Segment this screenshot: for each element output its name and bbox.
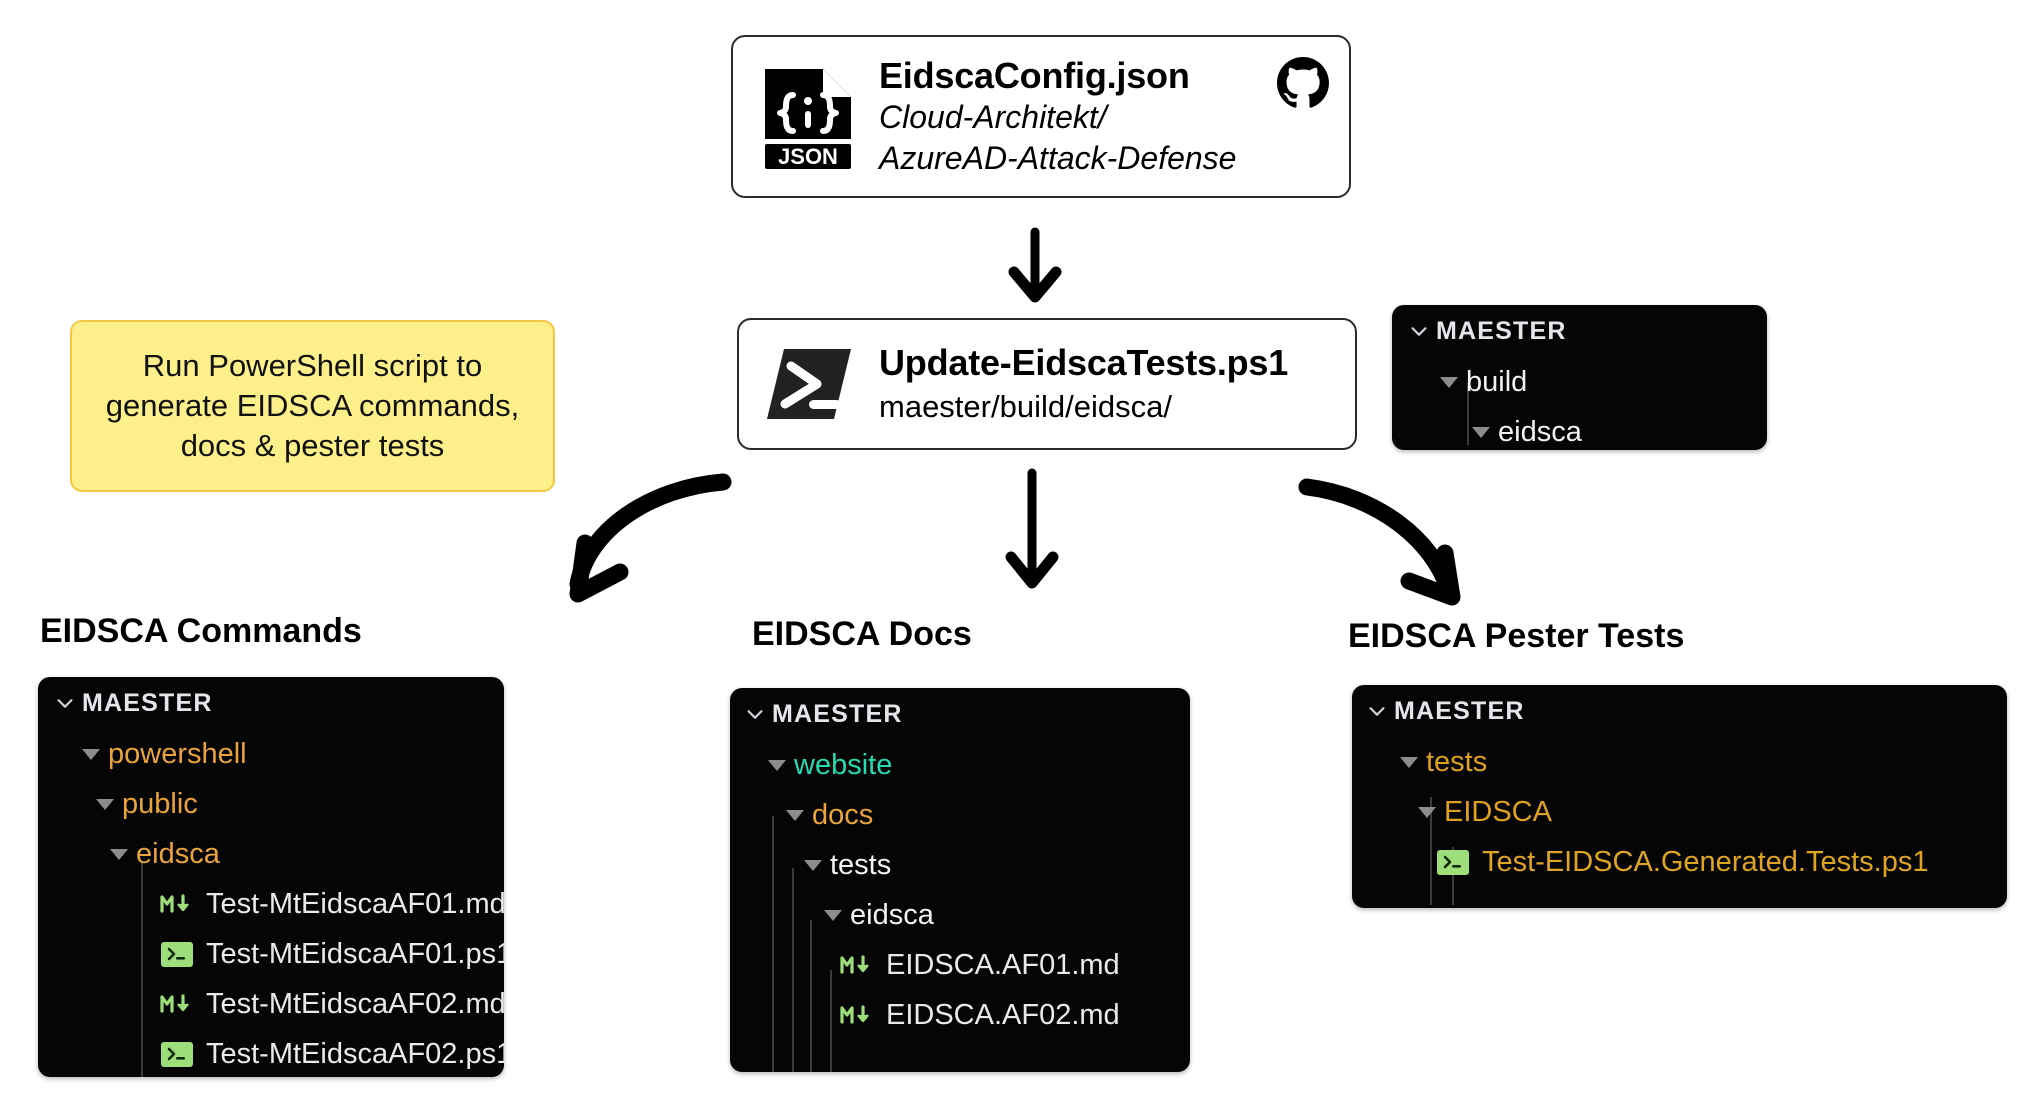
caret-down-icon[interactable] bbox=[88, 799, 122, 810]
tree-root-label: MAESTER bbox=[772, 702, 903, 727]
eidsca-docs-tree: MAESTER website docs tests eidsca bbox=[730, 688, 1190, 1072]
tree-node-label: tests bbox=[830, 851, 891, 880]
arrow-script-to-tests bbox=[1307, 487, 1452, 597]
tree-folder-row[interactable]: eidsca bbox=[38, 829, 504, 879]
tree-folder-row[interactable]: build bbox=[1392, 357, 1767, 407]
tree-node-label: Test-MtEidscaAF01.ps1 bbox=[206, 940, 504, 969]
heading-eidsca-pester-tests: EIDSCA Pester Tests bbox=[1348, 617, 1684, 656]
caret-down-icon[interactable] bbox=[1410, 807, 1444, 818]
tree-node-label: tests bbox=[1426, 748, 1487, 777]
markdown-file-icon bbox=[840, 952, 874, 978]
instruction-note: Run PowerShell script to generate EIDSCA… bbox=[70, 320, 555, 492]
caret-down-icon[interactable] bbox=[1432, 377, 1466, 388]
markdown-file-icon bbox=[160, 991, 194, 1017]
tree-root-label: MAESTER bbox=[1436, 319, 1567, 344]
tree-folder-row[interactable]: eidsca bbox=[730, 890, 1190, 940]
instruction-note-text: Run PowerShell script to generate EIDSCA… bbox=[90, 346, 535, 467]
eidsca-pester-tests-tree: MAESTER tests EIDSCA Test-EIDSCA.Generat… bbox=[1352, 685, 2007, 908]
tree-node-label: EIDSCA bbox=[1444, 798, 1552, 827]
tree-root-label: MAESTER bbox=[82, 691, 213, 716]
powershell-file-icon bbox=[1436, 849, 1470, 875]
source-config-card[interactable]: JSON EidscaConfig.json Cloud-Architekt/ … bbox=[731, 35, 1351, 198]
tree-node-label: docs bbox=[812, 801, 873, 830]
script-location-tree: MAESTER build eidsca Update-EidscaTests.… bbox=[1392, 305, 1767, 450]
source-card-title: EidscaConfig.json bbox=[879, 56, 1323, 96]
caret-down-icon[interactable] bbox=[778, 810, 812, 821]
tree-node-label: build bbox=[1466, 368, 1527, 397]
svg-text:JSON: JSON bbox=[778, 144, 838, 169]
tree-file-row[interactable]: Test-MtEidscaAF01.md bbox=[38, 879, 504, 929]
tree-root-row[interactable]: MAESTER bbox=[730, 688, 1190, 740]
heading-eidsca-docs: EIDSCA Docs bbox=[752, 615, 972, 654]
tree-file-row[interactable]: Test-MtEidscaAF02.ps1 bbox=[38, 1029, 504, 1077]
tree-folder-row[interactable]: docs bbox=[730, 790, 1190, 840]
arrow-script-to-docs bbox=[1011, 473, 1053, 583]
tree-folder-row[interactable]: tests bbox=[730, 840, 1190, 890]
diagram-canvas: JSON EidscaConfig.json Cloud-Architekt/ … bbox=[0, 0, 2030, 1104]
chevron-down-icon[interactable] bbox=[48, 692, 82, 714]
caret-down-icon[interactable] bbox=[74, 749, 108, 760]
tree-node-label: powershell bbox=[108, 740, 247, 769]
markdown-file-icon bbox=[840, 1002, 874, 1028]
tree-root-row[interactable]: MAESTER bbox=[38, 677, 504, 729]
caret-down-icon[interactable] bbox=[760, 760, 794, 771]
tree-file-row[interactable]: Test-MtEidscaAF02.md bbox=[38, 979, 504, 1029]
caret-down-icon[interactable] bbox=[816, 910, 850, 921]
tree-node-label: Test-MtEidscaAF01.md bbox=[206, 890, 504, 919]
caret-down-icon[interactable] bbox=[1464, 427, 1498, 438]
tree-folder-row[interactable]: website bbox=[730, 740, 1190, 790]
caret-down-icon[interactable] bbox=[1392, 757, 1426, 768]
tree-folder-row[interactable]: tests bbox=[1352, 737, 2007, 787]
heading-eidsca-commands: EIDSCA Commands bbox=[40, 612, 362, 651]
tree-folder-row[interactable]: public bbox=[38, 779, 504, 829]
markdown-file-icon bbox=[160, 891, 194, 917]
tree-node-label: eidsca bbox=[136, 840, 220, 869]
tree-node-label: Test-MtEidscaAF02.md bbox=[206, 990, 504, 1019]
tree-file-row[interactable]: Test-MtEidscaAF01.ps1 bbox=[38, 929, 504, 979]
tree-folder-row[interactable]: EIDSCA bbox=[1352, 787, 2007, 837]
eidsca-commands-tree: MAESTER powershell public eidsca Test-Mt… bbox=[38, 677, 504, 1077]
script-card[interactable]: Update-EidscaTests.ps1 maester/build/eid… bbox=[737, 318, 1357, 450]
tree-root-row[interactable]: MAESTER bbox=[1352, 685, 2007, 737]
tree-node-label: eidsca bbox=[1498, 418, 1582, 447]
arrow-script-to-commands bbox=[578, 482, 723, 594]
powershell-icon bbox=[763, 345, 855, 423]
tree-root-label: MAESTER bbox=[1394, 699, 1525, 724]
tree-folder-row[interactable]: eidsca bbox=[1392, 407, 1767, 450]
tree-node-label: EIDSCA.AF01.md bbox=[886, 951, 1120, 980]
source-card-subtitle-line2: AzureAD-Attack-Defense bbox=[879, 139, 1323, 177]
source-card-subtitle-line1: Cloud-Architekt/ bbox=[879, 98, 1323, 136]
github-icon[interactable] bbox=[1277, 57, 1329, 109]
script-card-subtitle: maester/build/eidsca/ bbox=[879, 388, 1288, 425]
powershell-file-icon bbox=[160, 1041, 194, 1067]
tree-node-label: EIDSCA.AF02.md bbox=[886, 1001, 1120, 1030]
tree-folder-row[interactable]: powershell bbox=[38, 729, 504, 779]
json-file-icon: JSON bbox=[759, 65, 857, 169]
caret-down-icon[interactable] bbox=[102, 849, 136, 860]
tree-node-label: Test-MtEidscaAF02.ps1 bbox=[206, 1040, 504, 1069]
arrow-source-to-script bbox=[1014, 232, 1056, 297]
chevron-down-icon[interactable] bbox=[1402, 320, 1436, 342]
tree-file-row[interactable]: EIDSCA.AF02.md bbox=[730, 990, 1190, 1040]
tree-file-row[interactable]: Test-EIDSCA.Generated.Tests.ps1 bbox=[1352, 837, 2007, 887]
script-card-title: Update-EidscaTests.ps1 bbox=[879, 343, 1288, 383]
tree-node-label: Test-EIDSCA.Generated.Tests.ps1 bbox=[1482, 848, 1928, 877]
chevron-down-icon[interactable] bbox=[738, 703, 772, 725]
caret-down-icon[interactable] bbox=[796, 860, 830, 871]
chevron-down-icon[interactable] bbox=[1360, 700, 1394, 722]
tree-node-label: website bbox=[794, 751, 892, 780]
powershell-file-icon bbox=[160, 941, 194, 967]
tree-node-label: public bbox=[122, 790, 198, 819]
tree-file-row[interactable]: EIDSCA.AF01.md bbox=[730, 940, 1190, 990]
tree-node-label: eidsca bbox=[850, 901, 934, 930]
tree-root-row[interactable]: MAESTER bbox=[1392, 305, 1767, 357]
